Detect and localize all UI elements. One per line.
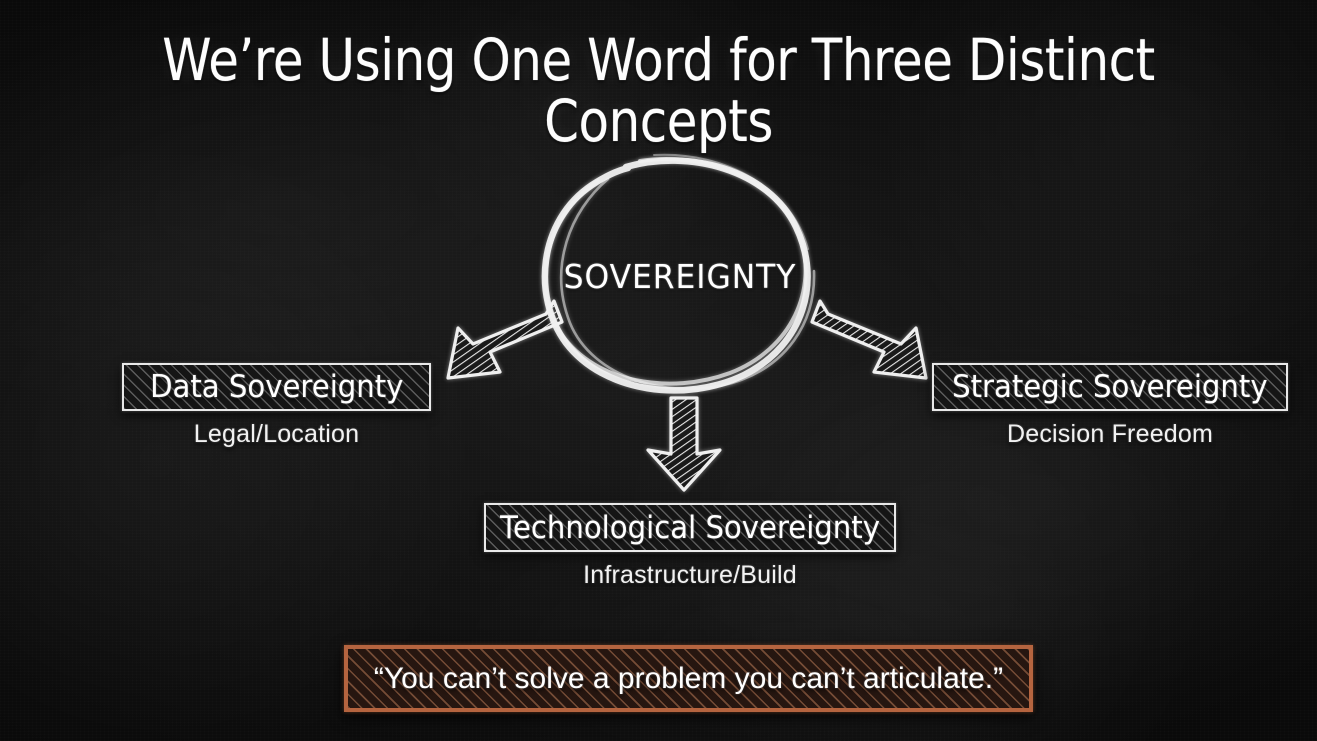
center-node: SOVEREIGNTY xyxy=(530,145,830,405)
concept-subtitle: Decision Freedom xyxy=(932,420,1288,449)
center-node-label: SOVEREIGNTY xyxy=(538,257,823,296)
concept-label: Data Sovereignty xyxy=(150,369,403,405)
quote-banner: “You can’t solve a problem you can’t art… xyxy=(344,645,1033,712)
concept-box[interactable]: Data Sovereignty xyxy=(122,363,431,411)
concept-data-sovereignty[interactable]: Data Sovereignty Legal/Location xyxy=(122,363,431,449)
concept-subtitle: Infrastructure/Build xyxy=(484,561,896,590)
slide-canvas: We’re Using One Word for Three Distinct … xyxy=(0,0,1317,741)
concept-subtitle: Legal/Location xyxy=(122,420,431,449)
page-title: We’re Using One Word for Three Distinct … xyxy=(92,30,1225,152)
concept-box[interactable]: Technological Sovereignty xyxy=(484,503,896,552)
quote-text: “You can’t solve a problem you can’t art… xyxy=(374,662,1003,696)
concept-label: Technological Sovereignty xyxy=(500,510,880,546)
concept-strategic-sovereignty[interactable]: Strategic Sovereignty Decision Freedom xyxy=(932,363,1288,449)
concept-technological-sovereignty[interactable]: Technological Sovereignty Infrastructure… xyxy=(484,503,896,590)
concept-box[interactable]: Strategic Sovereignty xyxy=(932,363,1288,411)
arrow-down-icon xyxy=(638,396,730,492)
concept-label: Strategic Sovereignty xyxy=(952,369,1268,405)
